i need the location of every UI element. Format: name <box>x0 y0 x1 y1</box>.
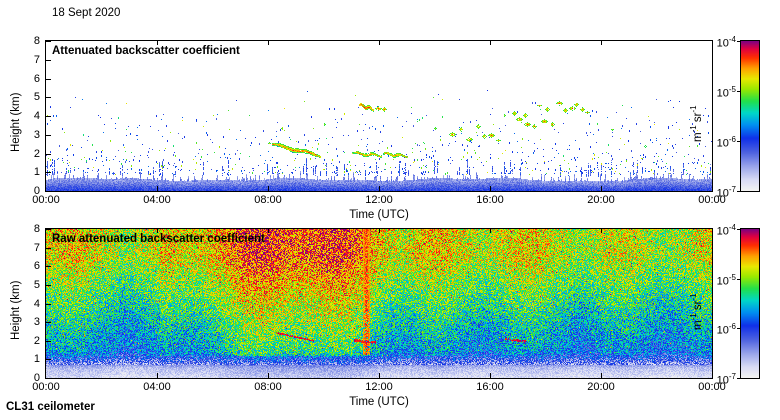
raw-attenuated-backscatter-title: Raw attenuated backscatter coefficient <box>52 233 265 246</box>
x-tick-mark-top <box>268 228 269 233</box>
x-tick-mark <box>601 186 602 191</box>
y-tick-label: 7 <box>24 55 40 66</box>
y-tick-mark <box>46 191 51 192</box>
y-tick-label: 6 <box>24 261 40 272</box>
colorbar-tick-mark <box>737 328 740 329</box>
y-tick-mark <box>46 266 51 267</box>
date-label: 18 Sept 2020 <box>52 6 120 20</box>
y-tick-label: 1 <box>24 354 40 365</box>
y-tick-mark <box>46 378 51 379</box>
x-tick-label: 12:00 <box>355 195 403 206</box>
x-tick-label: 00:00 <box>22 195 70 206</box>
x-tick-label: 00:00 <box>22 382 70 393</box>
x-tick-mark <box>379 186 380 191</box>
x-tick-mark <box>268 186 269 191</box>
attenuated-backscatter-xlabel: Time (UTC) <box>319 209 439 221</box>
y-tick-mark <box>46 359 51 360</box>
colorbar-bottom <box>740 228 760 379</box>
colorbar-tick-mark <box>737 279 740 280</box>
x-tick-mark-top <box>379 40 380 45</box>
x-tick-label: 20:00 <box>577 195 625 206</box>
colorbar-tick-mark <box>737 91 740 92</box>
colorbar-tick-label: 10-7 <box>704 184 736 200</box>
x-tick-label: 16:00 <box>466 195 514 206</box>
y-tick-mark <box>46 79 51 80</box>
y-tick-mark <box>46 135 51 136</box>
x-tick-mark-top <box>268 40 269 45</box>
y-tick-label: 8 <box>24 224 40 235</box>
colorbar-tick-label: 10-7 <box>704 371 736 387</box>
x-tick-mark <box>490 373 491 378</box>
x-tick-mark <box>268 373 269 378</box>
attenuated-backscatter-title: Attenuated backscatter coefficient <box>52 45 240 58</box>
x-tick-mark <box>157 186 158 191</box>
x-tick-mark-top <box>379 228 380 233</box>
colorbar-bottom-unit: m-1 sr-1 <box>688 293 704 330</box>
ceilometer-figure: 18 Sept 2020 Attenuated backscatter coef… <box>0 0 780 420</box>
colorbar-tick-label: 10-5 <box>704 272 736 288</box>
y-tick-label: 1 <box>24 167 40 178</box>
y-tick-mark <box>46 285 51 286</box>
y-tick-mark <box>46 116 51 117</box>
colorbar-top-unit: m-1 sr-1 <box>688 105 704 142</box>
colorbar-tick-mark <box>737 141 740 142</box>
y-tick-mark <box>46 97 51 98</box>
y-tick-mark <box>46 60 51 61</box>
y-tick-label: 2 <box>24 149 40 160</box>
y-tick-label: 4 <box>24 299 40 310</box>
x-tick-label: 04:00 <box>133 382 181 393</box>
x-tick-mark-top <box>601 40 602 45</box>
colorbar-tick-label: 10-5 <box>704 84 736 100</box>
colorbar-tick-mark <box>737 191 740 192</box>
raw-attenuated-backscatter-xlabel: Time (UTC) <box>319 396 439 408</box>
y-tick-mark <box>46 248 51 249</box>
x-tick-mark-top <box>601 228 602 233</box>
y-tick-mark <box>46 322 51 323</box>
x-tick-label: 20:00 <box>577 382 625 393</box>
y-tick-label: 3 <box>24 317 40 328</box>
colorbar-tick-label: 10-4 <box>704 34 736 50</box>
x-tick-label: 16:00 <box>466 382 514 393</box>
y-tick-mark <box>46 172 51 173</box>
colorbar-tick-mark <box>737 229 740 230</box>
x-tick-mark <box>379 373 380 378</box>
x-tick-mark <box>601 373 602 378</box>
colorbar-tick-mark <box>737 41 740 42</box>
y-tick-mark <box>46 229 51 230</box>
colorbar-tick-label: 10-6 <box>704 134 736 150</box>
colorbar-tick-label: 10-4 <box>704 222 736 238</box>
colorbar-tick-mark <box>737 378 740 379</box>
y-tick-label: 8 <box>24 36 40 47</box>
y-tick-label: 5 <box>24 92 40 103</box>
y-tick-label: 7 <box>24 243 40 254</box>
x-tick-label: 08:00 <box>244 195 292 206</box>
x-tick-label: 04:00 <box>133 195 181 206</box>
raw-attenuated-backscatter-ylabel: Height (km) <box>10 280 22 339</box>
colorbar-top <box>740 40 760 192</box>
y-tick-label: 3 <box>24 130 40 141</box>
attenuated-backscatter-ylabel: Height (km) <box>10 93 22 152</box>
attenuated-backscatter-plot <box>46 41 712 191</box>
y-tick-mark <box>46 154 51 155</box>
raw-attenuated-backscatter-plot <box>46 229 712 378</box>
x-tick-label: 08:00 <box>244 382 292 393</box>
instrument-caption: CL31 ceilometer <box>6 400 95 414</box>
y-tick-label: 6 <box>24 74 40 85</box>
y-tick-label: 2 <box>24 336 40 347</box>
y-tick-mark <box>46 304 51 305</box>
y-tick-mark <box>46 341 51 342</box>
x-tick-label: 12:00 <box>355 382 403 393</box>
y-tick-label: 4 <box>24 111 40 122</box>
x-tick-mark <box>157 373 158 378</box>
y-tick-mark <box>46 41 51 42</box>
x-tick-mark-top <box>490 40 491 45</box>
y-tick-label: 5 <box>24 280 40 291</box>
x-tick-mark-top <box>490 228 491 233</box>
colorbar-tick-label: 10-6 <box>704 321 736 337</box>
x-tick-mark <box>490 186 491 191</box>
